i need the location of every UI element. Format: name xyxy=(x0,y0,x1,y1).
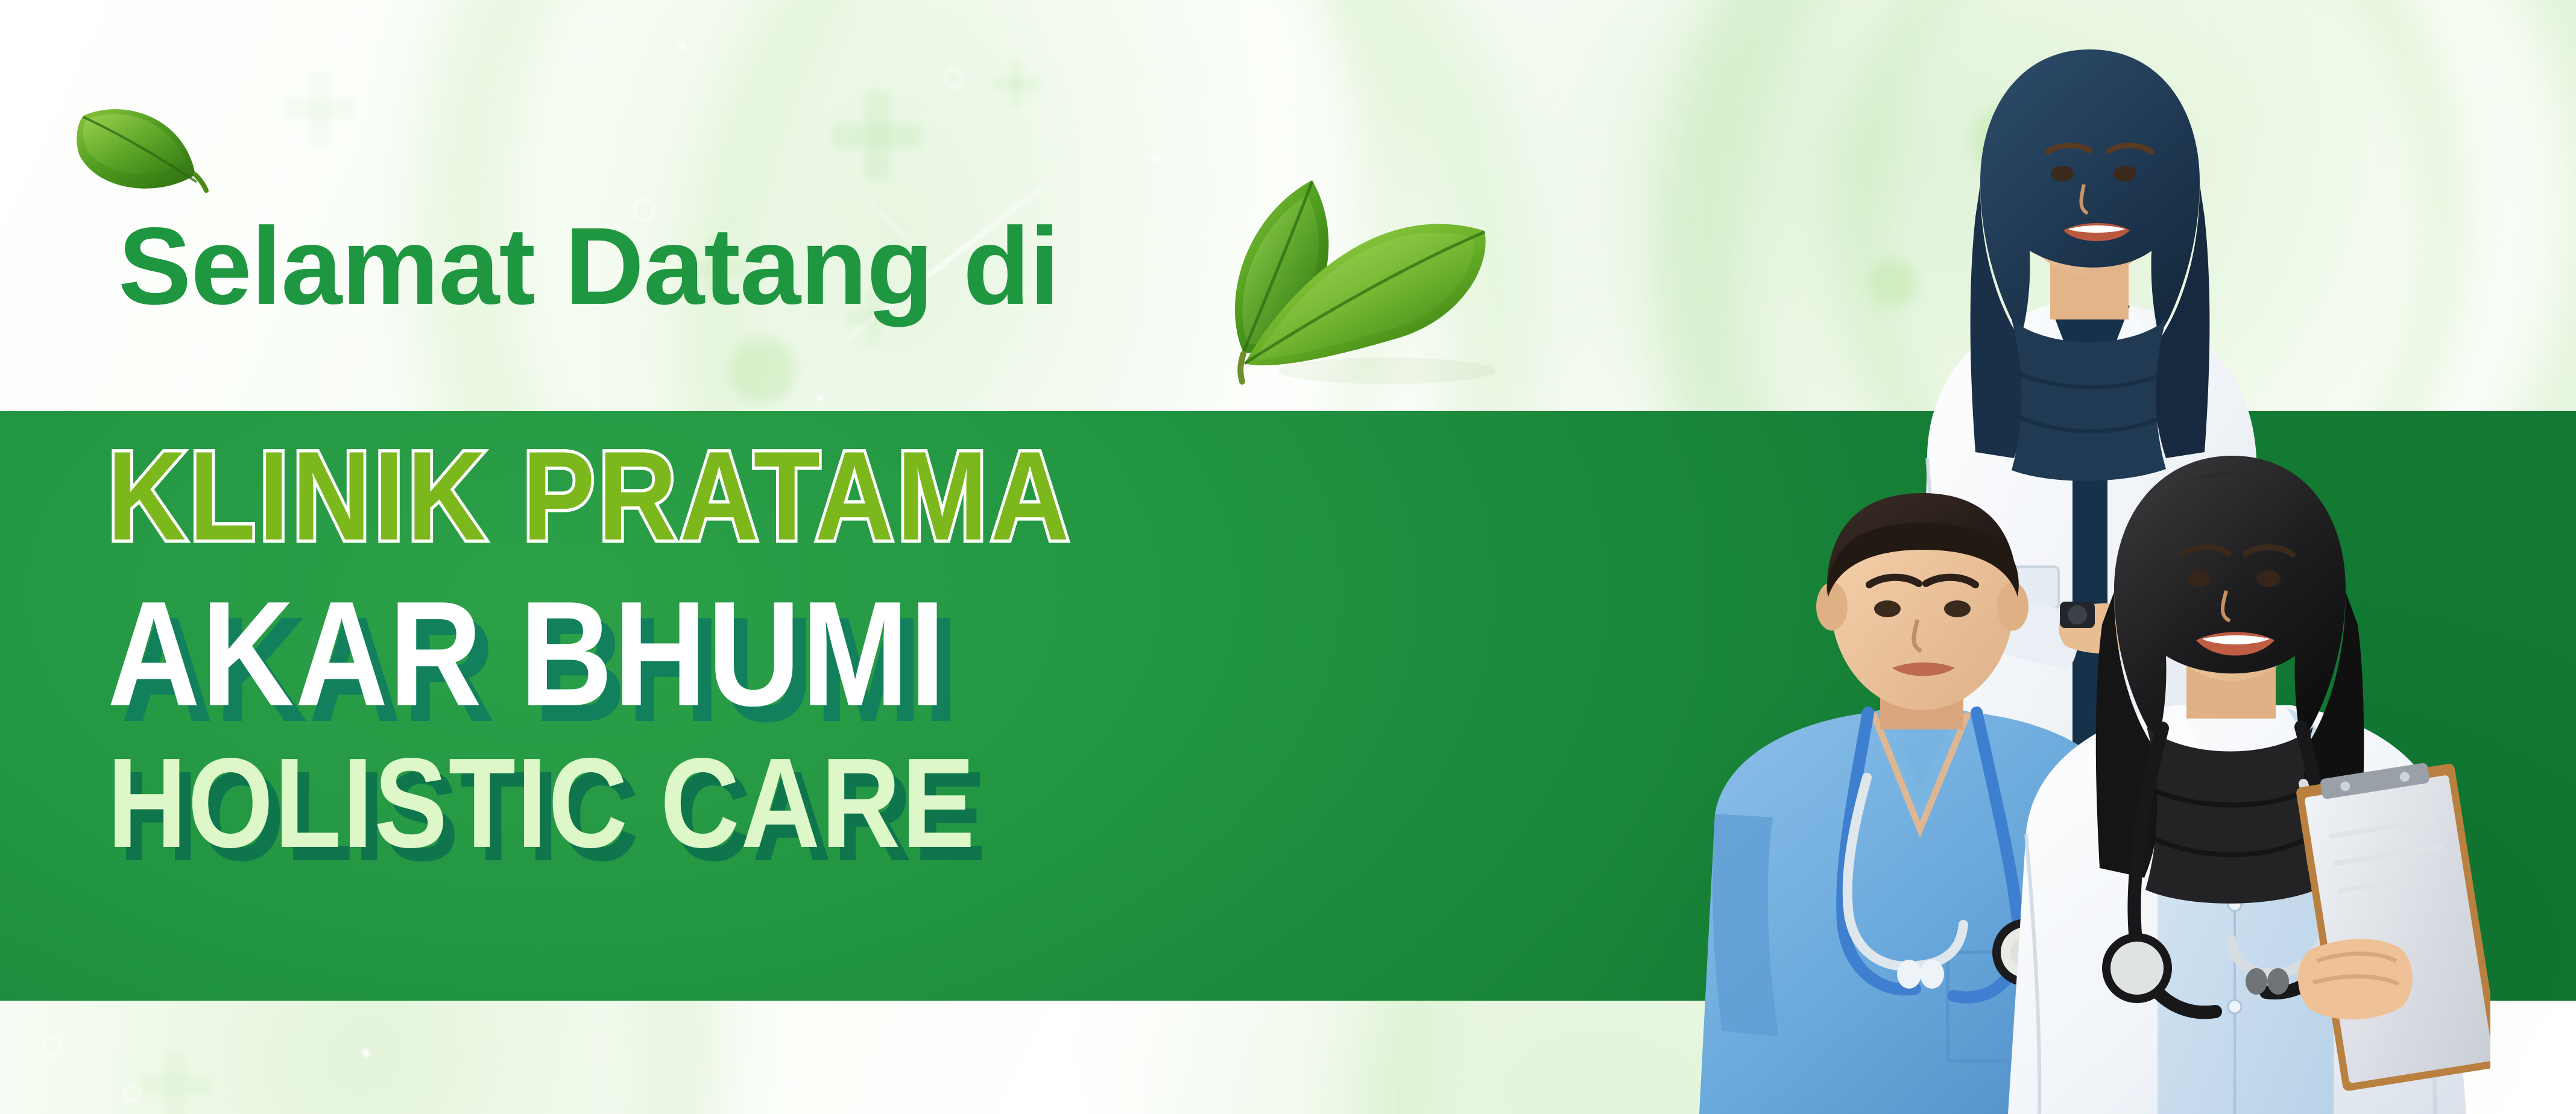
clinic-line-akar-bhumi: AKAR BHUMI xyxy=(107,579,1072,728)
female-doctor-black-hijab xyxy=(2008,446,2490,1114)
welcome-heading: Selamat Datang di xyxy=(118,211,1059,321)
leaf-pair-icon xyxy=(1206,172,1532,413)
clinic-line-klinik-pratama: KLINIK PRATAMA xyxy=(107,433,1072,559)
clinic-welcome-banner: Selamat Datang di KLINIK PRATAMA AKAR BH… xyxy=(0,0,2576,1114)
leaf-icon xyxy=(66,90,217,220)
medical-staff-group xyxy=(1532,0,2576,1114)
clinic-name-block: KLINIK PRATAMA AKAR BHUMI HOLISTIC CARE xyxy=(107,433,1230,867)
clinic-line-holistic-care: HOLISTIC CARE xyxy=(107,739,1072,867)
